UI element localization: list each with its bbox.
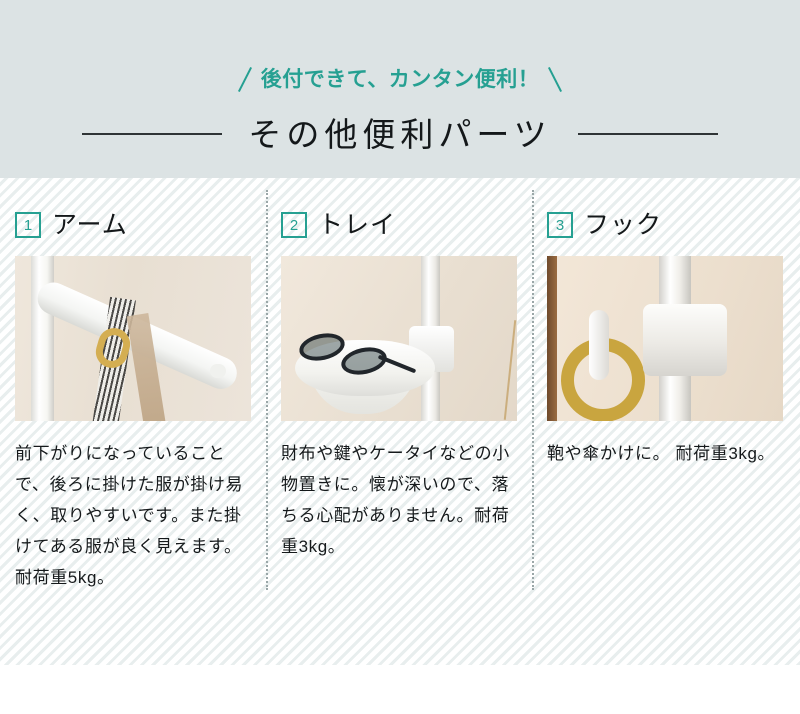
part-photo-hook [547, 256, 783, 421]
hook-arm-shape [589, 310, 609, 380]
part-photo-arm [15, 256, 251, 421]
part-description: 鞄や傘かけに。 耐荷重3kg。 [547, 439, 783, 470]
arm-tip-shape [210, 364, 226, 378]
slash-right-icon [547, 65, 563, 93]
cord-shape [504, 320, 516, 420]
part-description: 前下がりになっていることで、後ろに掛けた服が掛け易く、取りやすいです。また掛けて… [15, 439, 251, 594]
section-eyebrow: 後付できて、カンタン便利！ [0, 62, 800, 96]
product-parts-section: 後付できて、カンタン便利！ その他便利パーツ 1 アーム [0, 0, 800, 714]
part-heading: 3 フック [547, 204, 783, 246]
title-rule-right [578, 133, 718, 135]
part-heading: 2 トレイ [281, 204, 517, 246]
part-column-hook: 3 フック 鞄や傘かけに。 耐荷重3kg。 [532, 178, 798, 678]
number-badge: 1 [15, 212, 41, 238]
parts-columns: 1 アーム 前下がりになっていることで、後ろに掛けた服が掛け易く、取りやすいです… [0, 178, 800, 678]
part-photo-tray [281, 256, 517, 421]
section-header: 後付できて、カンタン便利！ その他便利パーツ [0, 0, 800, 178]
part-description: 財布や鍵やケータイなどの小物置きに。懐が深いので、落ちる心配がありません。耐荷重… [281, 439, 517, 563]
section-title-row: その他便利パーツ [0, 108, 800, 160]
part-title: トレイ [318, 213, 396, 238]
section-eyebrow-text: 後付できて、カンタン便利！ [261, 69, 539, 90]
part-title: フック [584, 213, 662, 238]
part-heading: 1 アーム [15, 204, 251, 246]
wall-edge-shape [547, 256, 557, 421]
lens-left-shape [297, 330, 347, 365]
number-badge: 2 [281, 212, 307, 238]
part-column-arm: 1 アーム 前下がりになっていることで、後ろに掛けた服が掛け易く、取りやすいです… [0, 178, 266, 678]
pole-shape [31, 256, 54, 421]
eyeglasses-shape [299, 332, 395, 366]
part-title: アーム [52, 213, 128, 238]
slash-left-icon [237, 65, 253, 93]
page-title: その他便利パーツ [248, 118, 551, 151]
part-column-tray: 2 トレイ 財布や鍵やケータイなどの小物置きに。懐が深いので、落ちる心配が [266, 178, 532, 678]
bottom-spacer [0, 665, 800, 714]
title-rule-left [82, 133, 222, 135]
hook-clamp-shape [643, 304, 727, 376]
number-badge: 3 [547, 212, 573, 238]
